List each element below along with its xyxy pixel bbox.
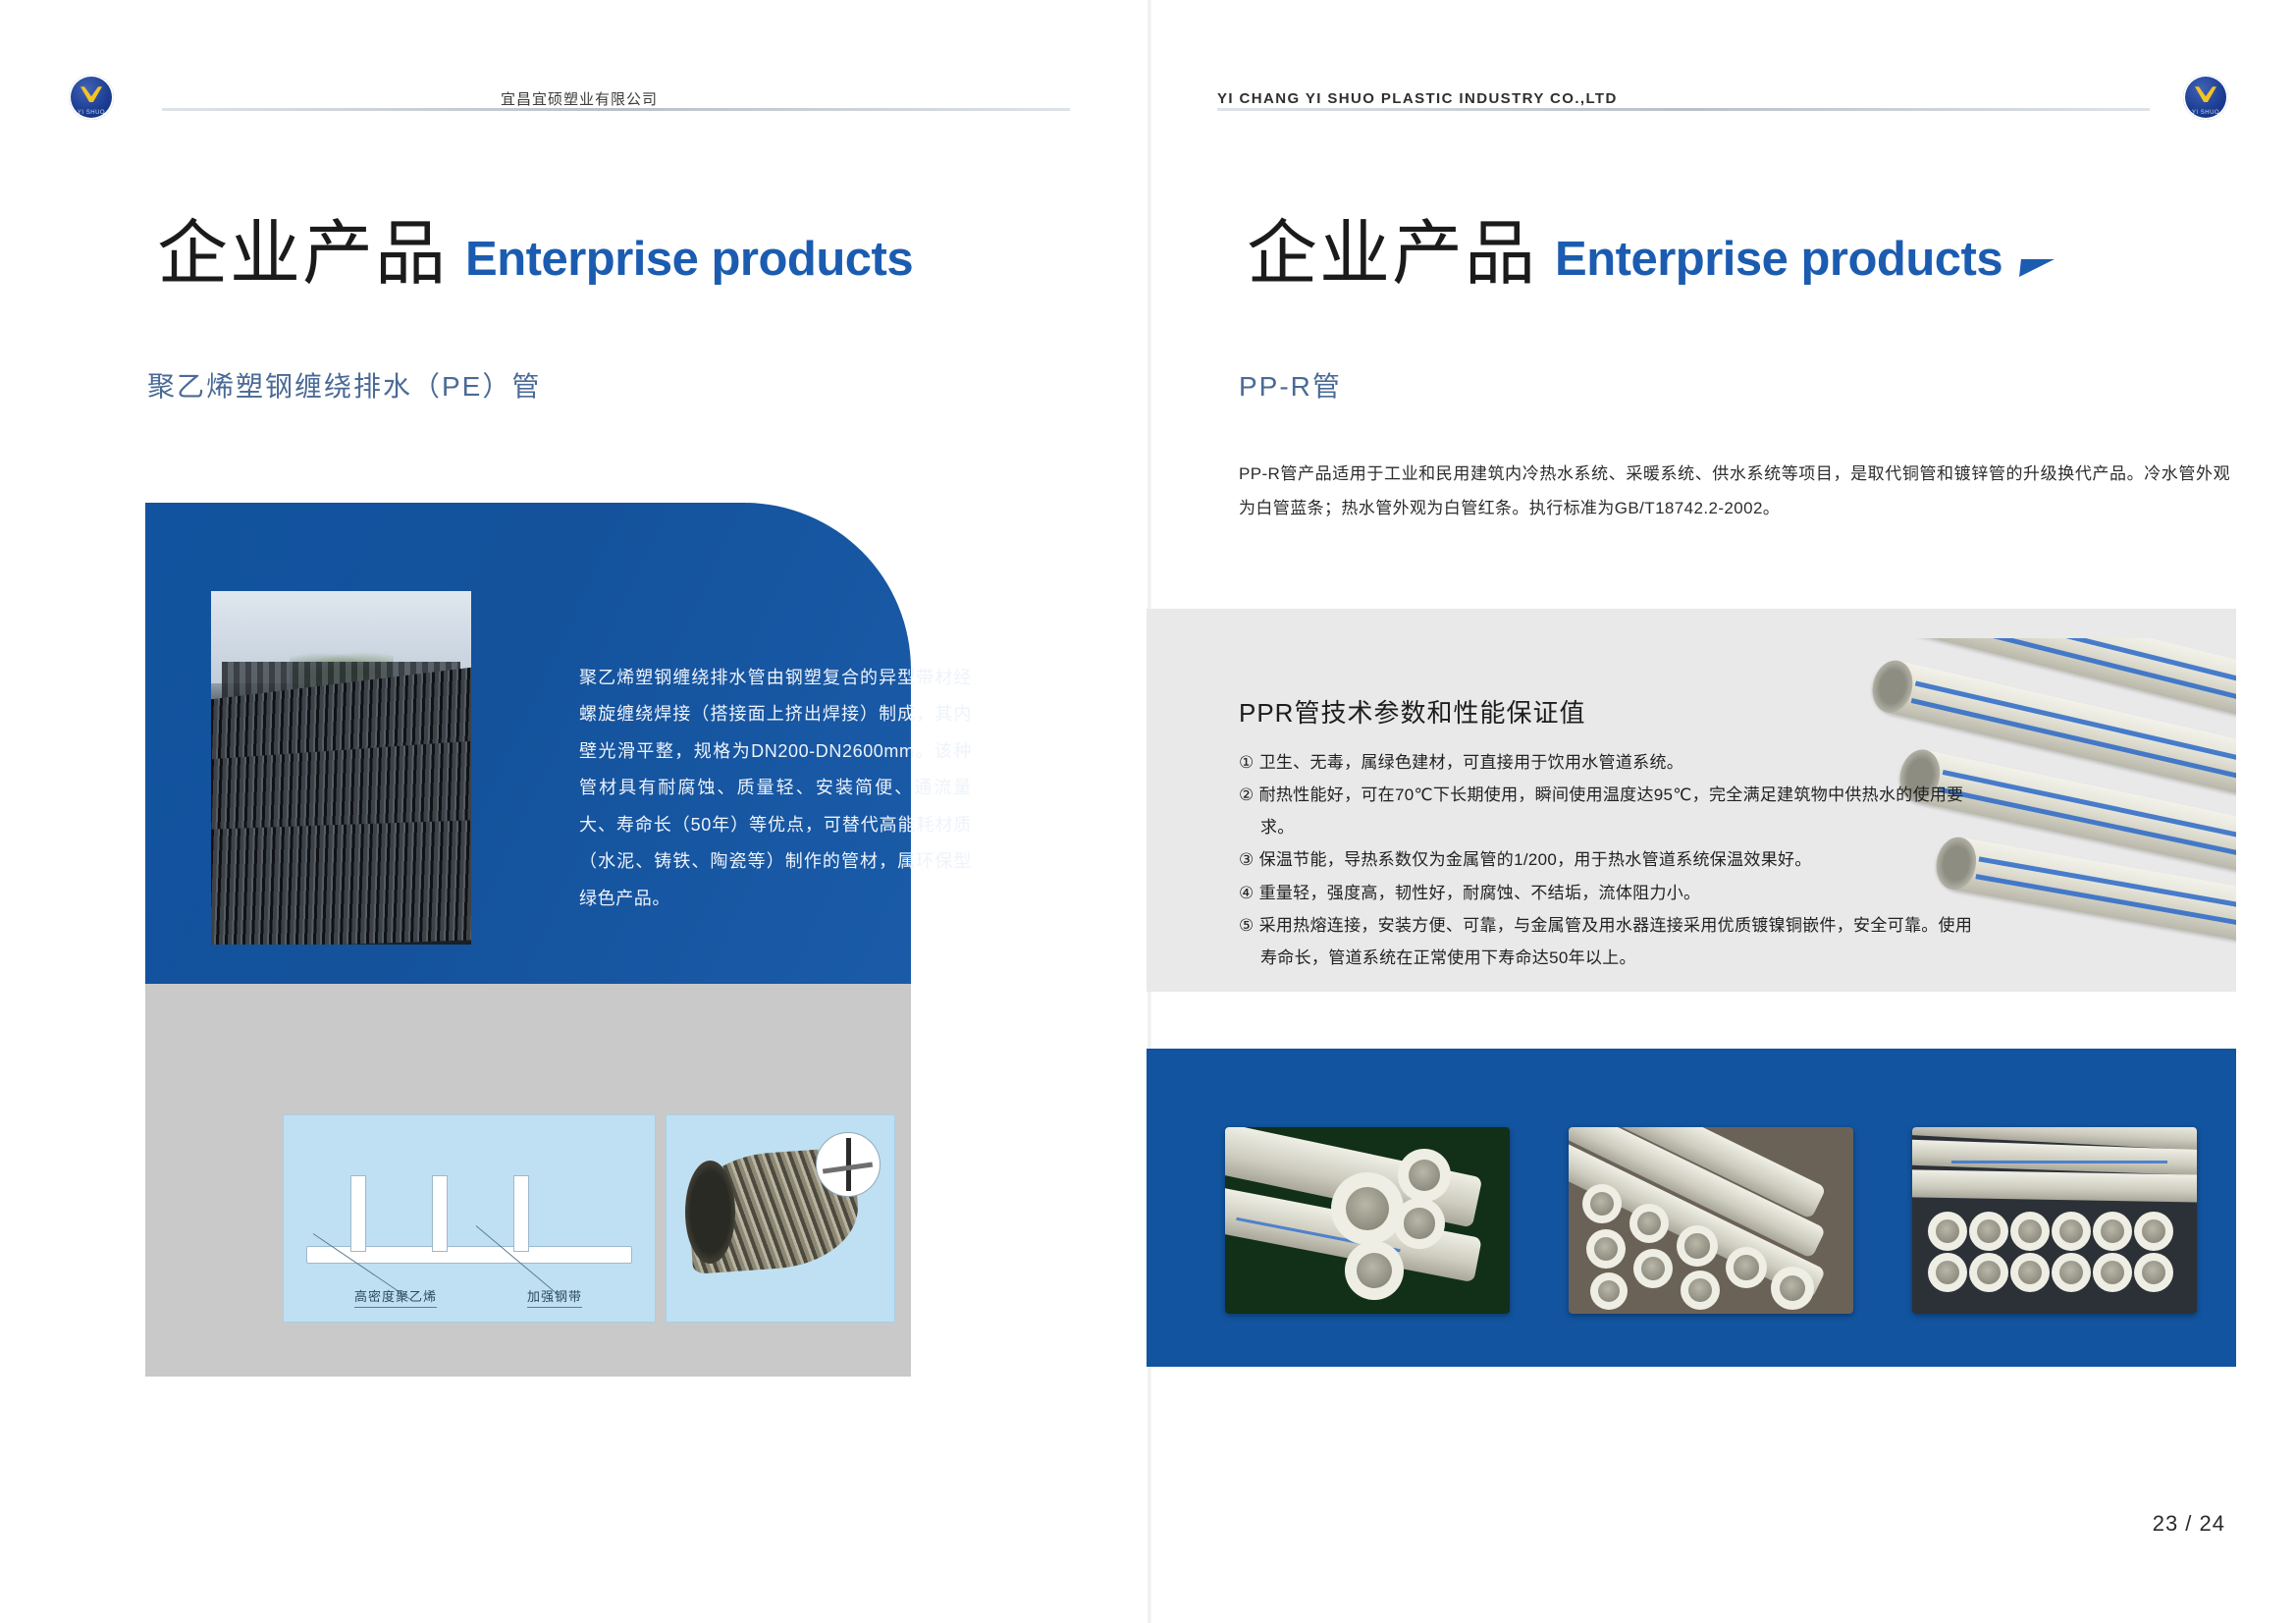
diagram-rib xyxy=(350,1175,366,1252)
company-logo-icon: YI SHUO xyxy=(2183,75,2228,120)
photo-pipe-ring xyxy=(2010,1212,2050,1251)
header-company-name-cn: 宜昌宜硕塑业有限公司 xyxy=(501,88,658,109)
diagram-label-steel-band: 加强钢带 xyxy=(527,1286,582,1308)
spec-list-item: ③ 保温节能，导热系数仅为金属管的1/200，用于热水管道系统保温效果好。 xyxy=(1239,843,1985,876)
photo-pipe-ring xyxy=(1398,1149,1451,1202)
page-number: 23 / 24 xyxy=(2153,1511,2225,1537)
right-page-subheading: PP-R管 xyxy=(1239,365,1342,405)
photo-pipe-ring xyxy=(2093,1212,2132,1251)
photo-pipe-ring xyxy=(1629,1204,1669,1243)
photo-pipe-ring xyxy=(1590,1272,1628,1310)
ppr-intro-paragraph: PP-R管产品适用于工业和民用建筑内冷热水系统、采暖系统、供水系统等项目，是取代… xyxy=(1239,458,2230,526)
diagram-pipe-opening xyxy=(685,1161,735,1264)
photo-pipe-ring xyxy=(1586,1229,1626,1269)
logo-subtext: YI SHUO xyxy=(69,110,114,116)
logo-subtext: YI SHUO xyxy=(2183,110,2228,116)
photo-pipe-ring xyxy=(1969,1253,2008,1292)
photo-pipe-ring xyxy=(1681,1271,1720,1310)
diagram-rib xyxy=(513,1175,529,1252)
photo-pipe-ring xyxy=(1771,1267,1814,1310)
company-logo-icon: YI SHUO xyxy=(69,75,114,120)
pe-pipe-description: 聚乙烯塑钢缠绕排水管由钢塑复合的异型带材经螺旋缠绕焊接（搭接面上挤出焊接）制成，… xyxy=(579,660,972,917)
ppr-spec-title: PPR管技术参数和性能保证值 xyxy=(1239,693,1585,730)
spec-list-item: ② 耐热性能好，可在70℃下长期使用，瞬间使用温度达95℃，完全满足建筑物中供热… xyxy=(1239,779,1985,843)
photo-corrugated-pipe xyxy=(211,820,471,945)
spec-list-item: ⑤ 采用热熔连接，安装方便、可靠，与金属管及用水器连接采用优质镀镍铜嵌件，安全可… xyxy=(1239,909,1985,974)
photo-pipe-ring xyxy=(1726,1247,1767,1288)
title-english: Enterprise products xyxy=(465,235,913,289)
header-company-name-en: YI CHANG YI SHUO PLASTIC INDUSTRY CO.,LT… xyxy=(1217,90,1618,107)
photo-pipe-ring xyxy=(1582,1184,1622,1223)
pe-pipe-photo xyxy=(211,591,471,945)
diagram-detail-callout xyxy=(816,1132,881,1197)
photo-pipe xyxy=(1912,1169,2197,1203)
photo-pipe-ring xyxy=(2052,1253,2091,1292)
header-rule xyxy=(1217,108,2150,111)
right-page-title: 企业产品 Enterprise products xyxy=(1247,218,2054,289)
spec-list-item: ① 卫生、无毒，属绿色建材，可直接用于饮用水管道系统。 xyxy=(1239,746,1985,779)
photo-pipe-ring xyxy=(1928,1212,1967,1251)
photo-pipe-ring xyxy=(1677,1225,1718,1267)
photo-pipe-ring xyxy=(1928,1253,1967,1292)
title-chinese: 企业产品 xyxy=(157,218,448,289)
left-page-title: 企业产品 Enterprise products xyxy=(157,218,913,289)
spec-list-item: ④ 重量轻，强度高，韧性好，耐腐蚀、不结垢，流体阻力小。 xyxy=(1239,877,1985,909)
diagram-rib xyxy=(432,1175,448,1252)
photo-pipe-ring xyxy=(2052,1212,2091,1251)
photo-pipe-ring xyxy=(2134,1212,2173,1251)
photo-pipe-ring xyxy=(2134,1253,2173,1292)
pe-profile-diagram: 高密度聚乙烯 加强钢带 xyxy=(283,1114,656,1323)
photo-pipe-ring xyxy=(1345,1241,1404,1300)
brochure-spread: YI SHUO 宜昌宜硕塑业有限公司 YI CHANG YI SHUO PLAS… xyxy=(0,0,2296,1623)
left-page-subheading: 聚乙烯塑钢缠绕排水（PE）管 xyxy=(147,365,541,405)
ppr-product-photo xyxy=(1225,1127,1510,1314)
photo-pipe-ring xyxy=(1394,1198,1445,1249)
photo-pipe-ring xyxy=(2093,1253,2132,1292)
photo-pipe-ring xyxy=(1969,1212,2008,1251)
title-english: Enterprise products xyxy=(1555,235,2002,289)
arrow-icon xyxy=(2019,259,2055,277)
header-right: YI CHANG YI SHUO PLASTIC INDUSTRY CO.,LT… xyxy=(1217,71,2228,130)
header-left: YI SHUO 宜昌宜硕塑业有限公司 xyxy=(69,71,1070,130)
photo-pipe-ring xyxy=(2010,1253,2050,1292)
photo-pipe-ring xyxy=(1633,1249,1673,1288)
diagram-label-hdpe: 高密度聚乙烯 xyxy=(354,1286,437,1308)
ppr-product-photo xyxy=(1912,1127,2197,1314)
photo-pipe-ring xyxy=(1331,1172,1404,1245)
pe-pipe-section-diagram xyxy=(666,1114,895,1323)
ppr-spec-list: ① 卫生、无毒，属绿色建材，可直接用于饮用水管道系统。② 耐热性能好，可在70℃… xyxy=(1239,746,1985,974)
ppr-product-photo xyxy=(1569,1127,1853,1314)
photo-blue-stripe xyxy=(1951,1161,2167,1163)
title-chinese: 企业产品 xyxy=(1247,218,1537,289)
